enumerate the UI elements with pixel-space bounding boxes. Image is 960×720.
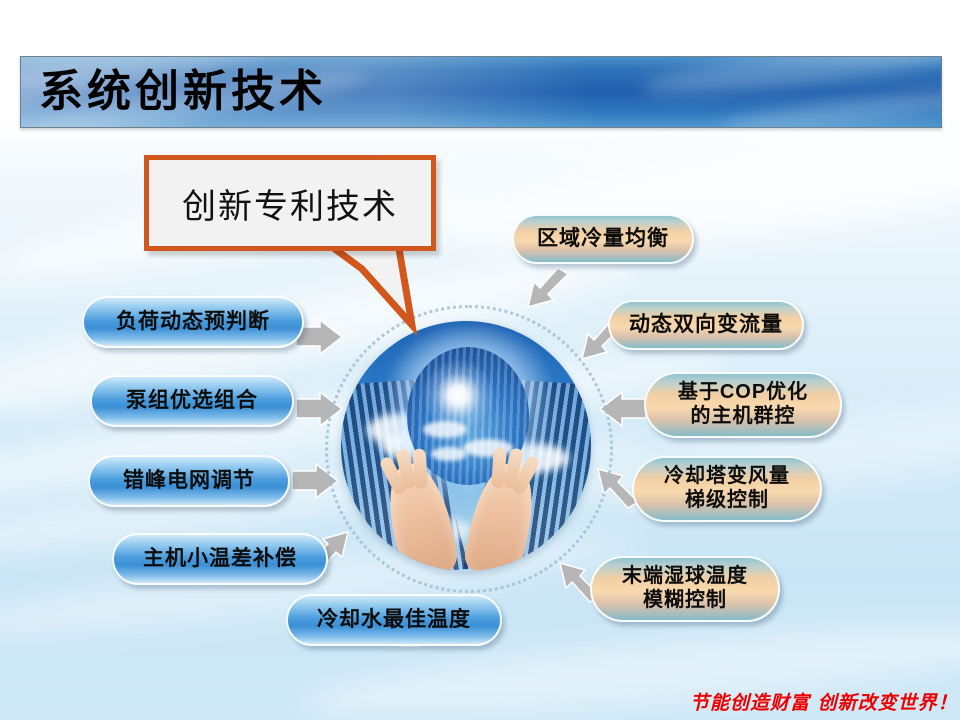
left-item-label: 负荷动态预判断 [116, 310, 270, 335]
right-item-wet-bulb-fuzzy-control[interactable]: 末端湿球温度 模糊控制 [590, 556, 780, 622]
right-item-dynamic-bidirectional-flow[interactable]: 动态双向变流量 [608, 300, 804, 350]
right-item-label-line1: 末端湿球温度 [622, 565, 748, 589]
left-item-load-forecast[interactable]: 负荷动态预判断 [82, 296, 304, 348]
right-item-label: 区域冷量均衡 [537, 227, 669, 252]
right-item-zone-cooling-balance[interactable]: 区域冷量均衡 [512, 214, 694, 264]
finger [412, 448, 428, 489]
page-title: 系统创新技术 [39, 59, 327, 125]
callout-bubble: 创新专利技术 [144, 155, 436, 251]
left-item-grid-peak-shift[interactable]: 错峰电网调节 [88, 455, 290, 507]
right-item-label-line2: 的主机群控 [691, 405, 796, 429]
left-item-small-temp-diff[interactable]: 主机小温差补偿 [112, 533, 328, 585]
left-item-label: 泵组优选组合 [126, 389, 258, 414]
arrow-down-left-icon [524, 266, 570, 310]
left-item-label: 冷却水最佳温度 [317, 608, 471, 633]
left-item-cooling-water-temp[interactable]: 冷却水最佳温度 [286, 594, 502, 646]
right-item-label-line1: 冷却塔变风量 [664, 465, 790, 489]
right-item-cop-chiller-control[interactable]: 基于COP优化 的主机群控 [644, 372, 842, 438]
left-item-label: 主机小温差补偿 [143, 547, 297, 572]
slide-canvas: 系统创新技术 创新专利技术 [0, 0, 960, 720]
callout-label: 创新专利技术 [149, 160, 431, 246]
globe-in-hands-photo [341, 321, 591, 571]
right-item-label: 动态双向变流量 [629, 313, 783, 338]
right-item-label-line2: 模糊控制 [643, 589, 727, 613]
right-item-cooling-tower-fan[interactable]: 冷却塔变风量 梯级控制 [632, 456, 822, 522]
globe-cloud [423, 421, 467, 438]
right-item-label-line1: 基于COP优化 [678, 381, 808, 405]
title-banner: 系统创新技术 [20, 56, 942, 128]
footer-slogan: 节能创造财富 创新改变世界！ [690, 688, 958, 715]
right-item-label-line2: 梯级控制 [685, 489, 769, 513]
left-item-pump-group[interactable]: 泵组优选组合 [90, 375, 294, 427]
globe-cloud [431, 447, 467, 461]
left-item-label: 错峰电网调节 [123, 469, 255, 494]
center-graphic [325, 305, 607, 587]
